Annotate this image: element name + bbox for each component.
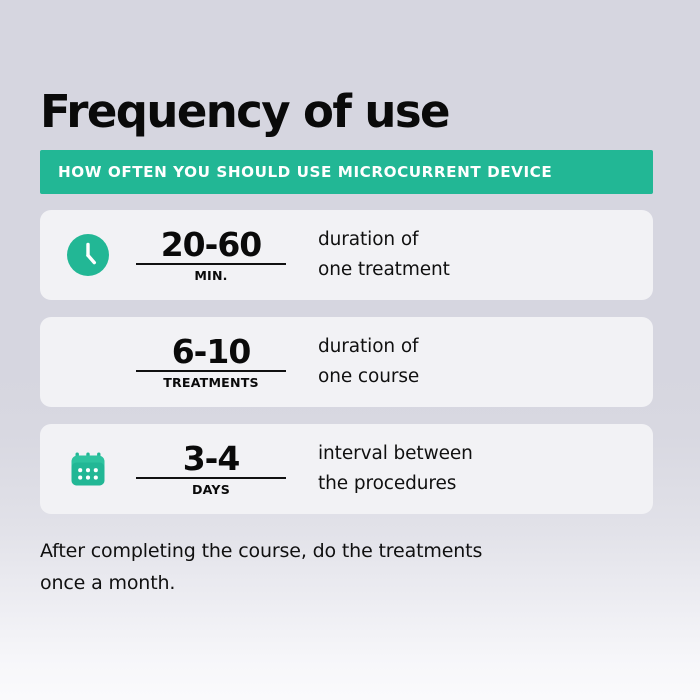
footer-note-line1: After completing the course, do the trea… [40,535,640,567]
stat-rule [136,263,286,265]
stat-block: 6-10 TREATMENTS [136,334,286,390]
stat-rule [136,370,286,372]
subtitle-banner: HOW OFTEN YOU SHOULD USE MICROCURRENT DE… [40,150,653,194]
stat-unit: DAYS [192,482,230,497]
stat-description-line2: one course [318,362,419,392]
stat-card-duration-course: 6-10 TREATMENTS duration of one course [40,317,653,407]
page-title: Frequency of use [40,86,449,138]
stat-card-interval-procedures: 3-4 DAYS interval between the procedures [40,424,653,514]
stat-value: 3-4 [183,441,240,476]
stat-card-duration-treatment: 20-60 MIN. duration of one treatment [40,210,653,300]
stat-description: duration of one treatment [318,225,450,285]
calendar-icon [67,448,109,490]
stat-description-line2: one treatment [318,255,450,285]
stat-rule [136,477,286,479]
subtitle-banner-label: HOW OFTEN YOU SHOULD USE MICROCURRENT DE… [58,163,552,181]
stat-description-line2: the procedures [318,469,473,499]
stat-unit: TREATMENTS [163,375,259,390]
clock-icon [66,233,110,277]
stat-description: interval between the procedures [318,439,473,499]
infographic-canvas: Frequency of use HOW OFTEN YOU SHOULD US… [0,0,700,700]
stat-description: duration of one course [318,332,419,392]
stat-block: 3-4 DAYS [136,441,286,497]
icon-slot [40,424,136,514]
icon-slot-empty [40,317,136,407]
icon-slot [40,210,136,300]
stat-block: 20-60 MIN. [136,227,286,283]
stat-value: 6-10 [172,334,251,369]
stat-value: 20-60 [161,227,262,262]
stat-description-line1: interval between [318,439,473,469]
stat-description-line1: duration of [318,332,419,362]
footer-note: After completing the course, do the trea… [40,535,640,599]
stat-unit: MIN. [194,268,227,283]
stat-description-line1: duration of [318,225,450,255]
footer-note-line2: once a month. [40,567,640,599]
